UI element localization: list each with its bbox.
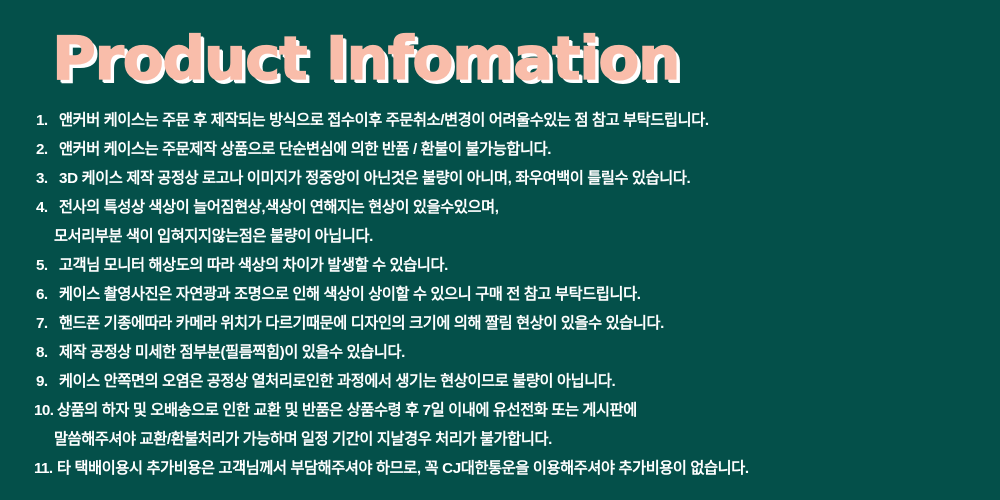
notice-item: 6.케이스 촬영사진은 자연광과 조명으로 인해 색상이 상이할 수 있으니 구… [36, 280, 986, 309]
notice-item: 1.앤커버 케이스는 주문 후 제작되는 방식으로 접수이후 주문취소/변경이 … [36, 106, 986, 135]
notice-text: 앤커버 케이스는 주문 후 제작되는 방식으로 접수이후 주문취소/변경이 어려… [59, 106, 709, 135]
notice-text: 말씀해주셔야 교환/환불처리가 가능하며 일정 기간이 지날경우 처리가 불가합… [54, 425, 552, 454]
notice-number: 5. [36, 251, 59, 280]
notice-item: 8.제작 공정상 미세한 점부분(필름찍힘)이 있을수 있습니다. [36, 338, 986, 367]
page-title: Product Infomation [52, 24, 952, 94]
notice-item: 5.고객님 모니터 해상도의 따라 색상의 차이가 발생할 수 있습니다. [36, 251, 986, 280]
notice-number: 4. [36, 193, 59, 222]
notice-text: 앤커버 케이스는 주문제작 상품으로 단순변심에 의한 반품 / 환불이 불가능… [59, 135, 551, 164]
product-information-banner: Product Infomation 1.앤커버 케이스는 주문 후 제작되는 … [0, 0, 1000, 500]
notice-item: 11.타 택배이용시 추가비용은 고객님께서 부담해주셔야 하므로, 꼭 CJ대… [36, 454, 986, 483]
notice-item: 10.상품의 하자 및 오배송으로 인한 교환 및 반품은 상품수령 후 7일 … [36, 396, 986, 425]
notice-text: 타 택배이용시 추가비용은 고객님께서 부담해주셔야 하므로, 꼭 CJ대한통운… [57, 454, 749, 483]
notice-number: 7. [36, 309, 59, 338]
notice-item: 9.케이스 안쪽면의 오염은 공정상 열처리로인한 과정에서 생기는 현상이므로… [36, 367, 986, 396]
notice-number: 6. [36, 280, 59, 309]
title-block: Product Infomation [52, 24, 952, 98]
notice-number: 1. [36, 106, 59, 135]
notice-text: 고객님 모니터 해상도의 따라 색상의 차이가 발생할 수 있습니다. [59, 251, 448, 280]
notice-text: 상품의 하자 및 오배송으로 인한 교환 및 반품은 상품수령 후 7일 이내에… [57, 396, 637, 425]
notice-continuation-line: 말씀해주셔야 교환/환불처리가 가능하며 일정 기간이 지날경우 처리가 불가합… [36, 425, 986, 454]
notice-number: 9. [36, 367, 59, 396]
notice-text: 제작 공정상 미세한 점부분(필름찍힘)이 있을수 있습니다. [59, 338, 405, 367]
notice-item: 7.핸드폰 기종에따라 카메라 위치가 다르기때문에 디자인의 크기에 의해 짤… [36, 309, 986, 338]
notice-item: 2.앤커버 케이스는 주문제작 상품으로 단순변심에 의한 반품 / 환불이 불… [36, 135, 986, 164]
notice-number: 10. [34, 396, 57, 425]
notice-text: 모서리부분 색이 입혀지지않는점은 불량이 아닙니다. [54, 222, 373, 251]
notice-list: 1.앤커버 케이스는 주문 후 제작되는 방식으로 접수이후 주문취소/변경이 … [36, 106, 986, 483]
notice-number: 3. [36, 164, 59, 193]
notice-text: 전사의 특성상 색상이 늘어짐현상,색상이 연해지는 현상이 있을수있으며, [59, 193, 499, 222]
notice-number: 8. [36, 338, 59, 367]
notice-number: 11. [34, 454, 57, 483]
notice-text: 핸드폰 기종에따라 카메라 위치가 다르기때문에 디자인의 크기에 의해 짤림 … [59, 309, 664, 338]
notice-continuation-line: 모서리부분 색이 입혀지지않는점은 불량이 아닙니다. [36, 222, 986, 251]
notice-text: 케이스 안쪽면의 오염은 공정상 열처리로인한 과정에서 생기는 현상이므로 불… [59, 367, 615, 396]
notice-text: 3D 케이스 제작 공정상 로고나 이미지가 정중앙이 아닌것은 불량이 아니며… [59, 164, 690, 193]
notice-number: 2. [36, 135, 59, 164]
notice-item: 3.3D 케이스 제작 공정상 로고나 이미지가 정중앙이 아닌것은 불량이 아… [36, 164, 986, 193]
notice-item: 4.전사의 특성상 색상이 늘어짐현상,색상이 연해지는 현상이 있을수있으며, [36, 193, 986, 222]
notice-text: 케이스 촬영사진은 자연광과 조명으로 인해 색상이 상이할 수 있으니 구매 … [59, 280, 641, 309]
